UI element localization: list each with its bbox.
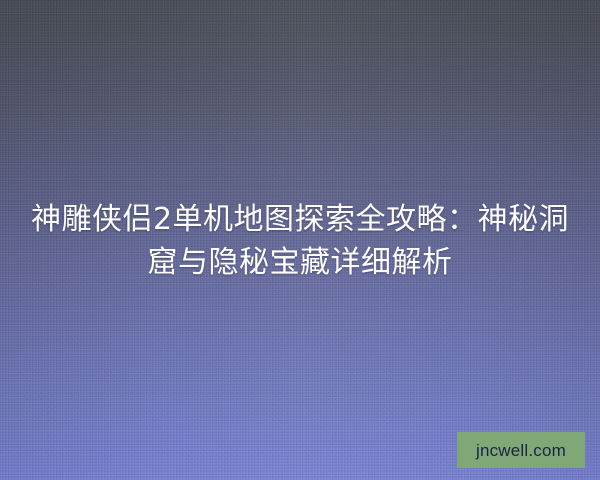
banner-title: 神雕侠侣2单机地图探索全攻略：神秘洞 窟与隐秘宝藏详细解析 (0, 198, 600, 284)
watermark-label: jncwell.com (476, 442, 566, 459)
banner-image: 神雕侠侣2单机地图探索全攻略：神秘洞 窟与隐秘宝藏详细解析 jncwell.co… (0, 0, 600, 480)
watermark-badge: jncwell.com (457, 432, 585, 468)
banner-title-line-2: 窟与隐秘宝藏详细解析 (30, 241, 570, 284)
banner-title-line-1: 神雕侠侣2单机地图探索全攻略：神秘洞 (30, 198, 570, 241)
